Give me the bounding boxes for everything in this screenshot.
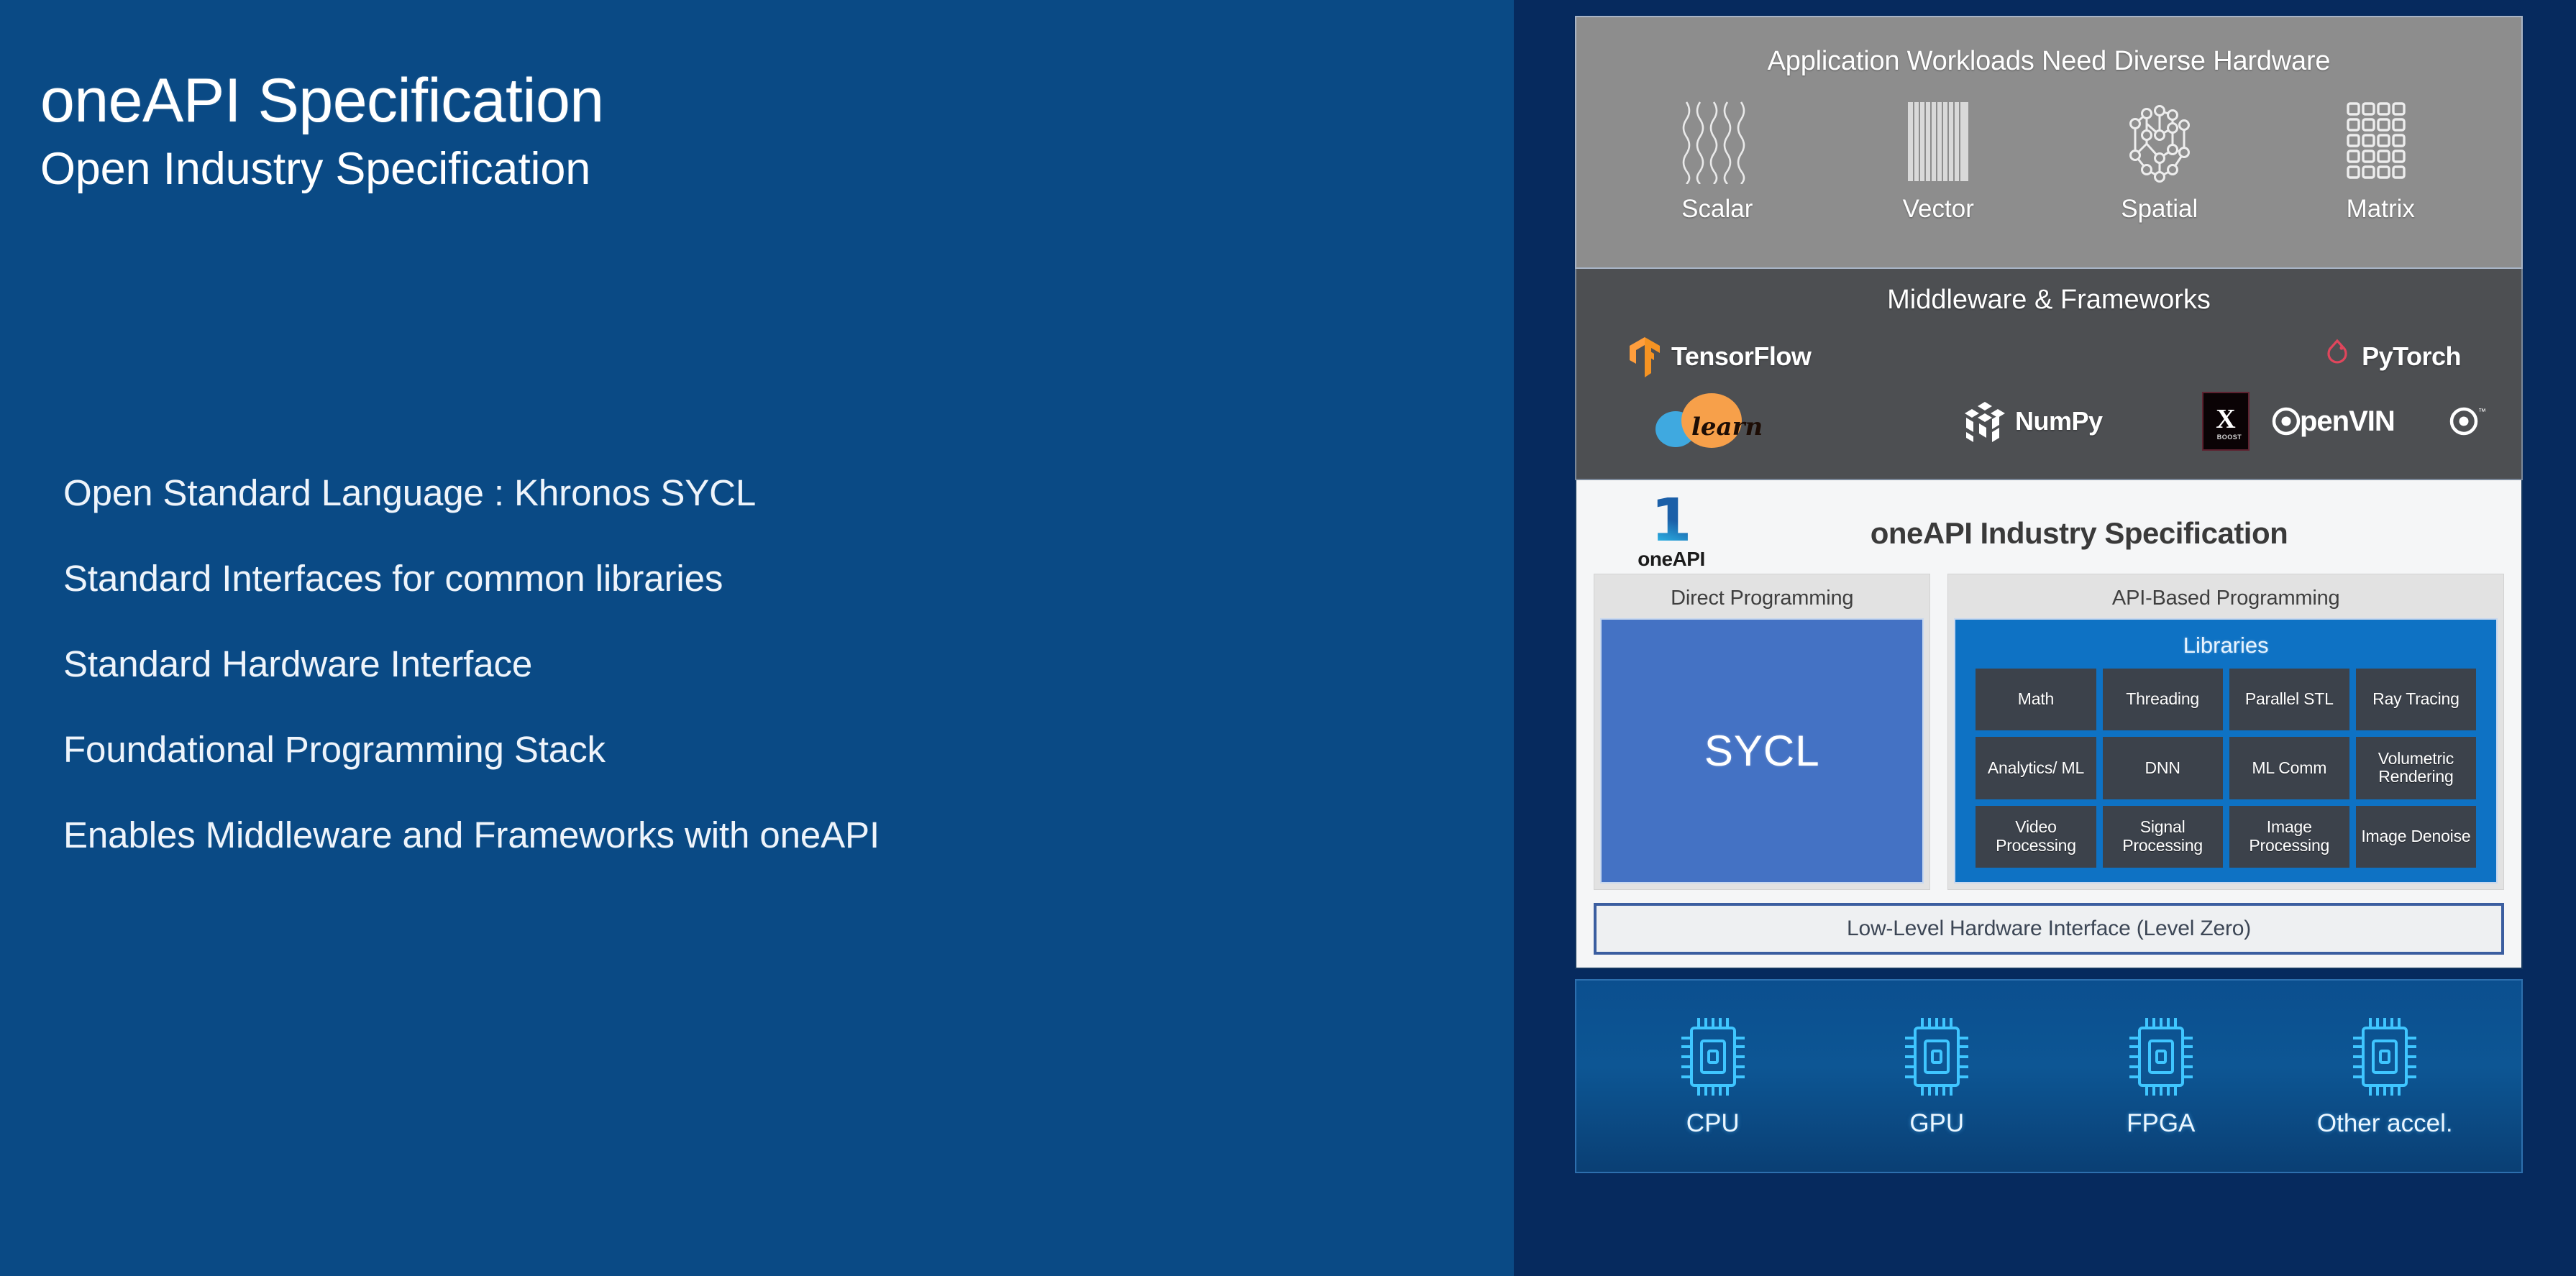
scalar-waves-icon xyxy=(1620,98,1814,185)
page-subtitle: Open Industry Specification xyxy=(40,143,604,195)
list-item: Standard Hardware Interface xyxy=(63,646,1473,682)
target-label: CPU xyxy=(1605,1109,1820,1138)
workload-label: Scalar xyxy=(1620,195,1814,224)
library-tile[interactable]: Volumetric Rendering xyxy=(2356,737,2476,799)
library-tile[interactable]: Ray Tracing xyxy=(2356,669,2476,730)
tensorflow-logo xyxy=(1628,336,1661,377)
oneapi-specification-section: 1 oneAPI oneAPI Industry Specification D… xyxy=(1575,480,2523,969)
oneapi-logo-wordmark: oneAPI xyxy=(1631,548,1712,571)
vector-bars-icon xyxy=(1841,98,2036,185)
workload-scalar: Scalar xyxy=(1620,98,1814,224)
middleware-logo-row-2: learn . xyxy=(1576,382,2521,461)
workload-label: Matrix xyxy=(2283,195,2478,224)
title-block: oneAPI Specification Open Industry Speci… xyxy=(40,68,604,195)
library-tile[interactable]: Threading xyxy=(2103,669,2223,730)
chip-icon xyxy=(2347,1015,2422,1098)
logo-label: TensorFlow xyxy=(1671,341,1811,372)
hardware-workloads-title: Application Workloads Need Diverse Hardw… xyxy=(1576,17,2521,77)
chip-icon xyxy=(1899,1015,1974,1098)
workload-label: Spatial xyxy=(2062,195,2257,224)
list-item: Foundational Programming Stack xyxy=(63,731,1473,768)
openvino-logo: penVIN ™ xyxy=(2271,403,2487,440)
spec-header: 1 oneAPI oneAPI Industry Specification xyxy=(1594,493,2504,574)
target-label: Other accel. xyxy=(2278,1109,2493,1138)
hardware-workloads-section: Application Workloads Need Diverse Hardw… xyxy=(1575,16,2523,269)
library-tile[interactable]: Signal Processing xyxy=(2103,806,2223,868)
target-cpu: CPU xyxy=(1605,1015,1820,1138)
api-based-programming-heading: API-Based Programming xyxy=(1954,580,2498,618)
low-level-hardware-interface-label: Low-Level Hardware Interface (Level Zero… xyxy=(1847,917,2251,941)
workload-spatial: Spatial xyxy=(2062,98,2257,224)
matrix-grid-icon xyxy=(2283,98,2478,185)
list-item: Open Standard Language : Khronos SYCL xyxy=(63,474,1473,511)
sycl-label: SYCL xyxy=(1704,726,1820,776)
direct-programming-heading: Direct Programming xyxy=(1600,580,1924,618)
scikit-learn-logo-group: learn xyxy=(1650,390,1765,452)
spec-title: oneAPI Industry Specification xyxy=(1712,516,2447,551)
oneapi-stack-diagram: Application Workloads Need Diverse Hardw… xyxy=(1575,16,2523,1259)
oneapi-logo-mark: 1 xyxy=(1631,496,1712,547)
logo-label: NumPy xyxy=(2015,406,2103,436)
middleware-title: Middleware & Frameworks xyxy=(1576,269,2521,316)
middleware-logo-row-1: TensorFlow PyTorch xyxy=(1576,316,2521,382)
pytorch-logo-group: PyTorch xyxy=(2323,338,2461,375)
api-based-programming-column: API-Based Programming Libraries Math Thr… xyxy=(1947,574,2504,890)
target-label: FPGA xyxy=(2053,1109,2268,1138)
middleware-frameworks-section: Middleware & Frameworks TensorFlow PyTor… xyxy=(1575,269,2523,480)
target-label: GPU xyxy=(1830,1109,2045,1138)
page-title: oneAPI Specification xyxy=(40,68,604,133)
logo-label: PyTorch xyxy=(2362,341,2461,372)
target-other-accel: Other accel. xyxy=(2278,1015,2493,1138)
svg-text:™: ™ xyxy=(2478,408,2486,416)
libraries-box: Libraries Math Threading Parallel STL Ra… xyxy=(1954,618,2498,883)
xgboost-logo: X BOOST xyxy=(2202,392,2250,451)
library-tile[interactable]: Analytics/ ML xyxy=(1976,737,2096,799)
direct-programming-column: Direct Programming SYCL xyxy=(1594,574,1930,890)
list-item: Standard Interfaces for common libraries xyxy=(63,560,1473,597)
chip-icon xyxy=(1676,1015,1750,1098)
library-tile[interactable]: ML Comm xyxy=(2229,737,2349,799)
target-gpu: GPU xyxy=(1830,1015,2045,1138)
library-tile[interactable]: Image Denoise xyxy=(2356,806,2476,868)
list-item: Enables Middleware and Frameworks with o… xyxy=(63,817,1473,853)
chip-icon xyxy=(2124,1015,2198,1098)
pytorch-logo xyxy=(2323,338,2352,375)
scikit-learn-logo: learn xyxy=(1650,390,1765,452)
library-tile[interactable]: Parallel STL xyxy=(2229,669,2349,730)
target-fpga: FPGA xyxy=(2053,1015,2268,1138)
libraries-title: Libraries xyxy=(1976,627,2476,669)
svg-text:learn: learn xyxy=(1691,413,1763,441)
library-tile[interactable]: Math xyxy=(1976,669,2096,730)
sycl-box: SYCL xyxy=(1600,618,1924,883)
numpy-logo-group: . NumPy xyxy=(1965,400,2103,442)
hardware-workloads-items: Scalar Vector xyxy=(1576,77,2521,224)
workload-label: Vector xyxy=(1841,195,2036,224)
library-tile[interactable]: Image Processing xyxy=(2229,806,2349,868)
svg-text:BOOST: BOOST xyxy=(2217,433,2242,441)
svg-text:X: X xyxy=(2216,404,2235,434)
svg-text:penVIN: penVIN xyxy=(2300,405,2395,437)
spatial-network-icon xyxy=(2062,98,2257,185)
programming-models-row: Direct Programming SYCL API-Based Progra… xyxy=(1594,574,2504,890)
tensorflow-logo-group: TensorFlow xyxy=(1628,336,1811,377)
xgboost-logo-group: X BOOST xyxy=(2202,392,2250,451)
low-level-hardware-interface-bar: Low-Level Hardware Interface (Level Zero… xyxy=(1594,903,2504,955)
library-tile[interactable]: Video Processing xyxy=(1976,806,2096,868)
workload-vector: Vector xyxy=(1841,98,2036,224)
library-tile[interactable]: DNN xyxy=(2103,737,2223,799)
workload-matrix: Matrix xyxy=(2283,98,2478,224)
openvino-logo-group: penVIN ™ xyxy=(2271,403,2487,440)
bullet-list: Open Standard Language : Khronos SYCL St… xyxy=(63,474,1473,902)
libraries-grid: Math Threading Parallel STL Ray Tracing … xyxy=(1976,669,2476,868)
left-content-panel: oneAPI Specification Open Industry Speci… xyxy=(0,0,1514,1276)
numpy-logo: . xyxy=(1965,400,2005,442)
hardware-targets-section: CPU xyxy=(1575,979,2523,1173)
oneapi-logo: 1 oneAPI xyxy=(1631,496,1712,572)
